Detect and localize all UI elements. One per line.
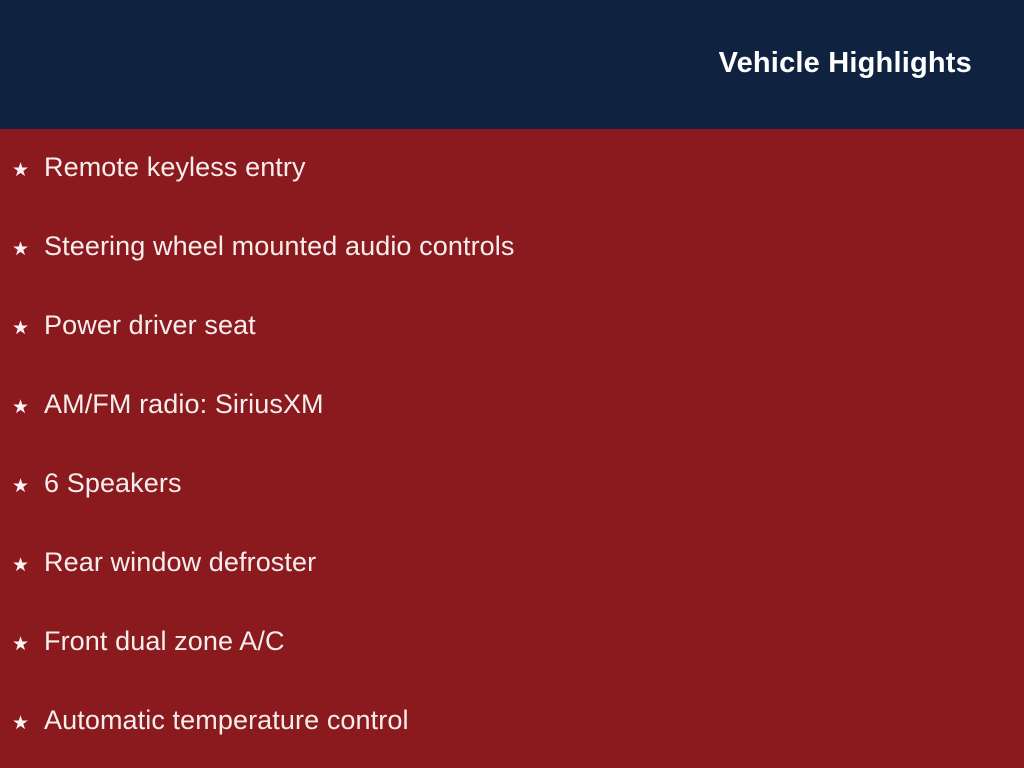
star-bullet-icon: ★ bbox=[12, 635, 44, 654]
vehicle-highlights-slide: Vehicle Highlights ★ Remote keyless entr… bbox=[0, 0, 1024, 768]
list-item-label: Steering wheel mounted audio controls bbox=[44, 233, 515, 260]
list-item: ★ Power driver seat bbox=[0, 312, 1024, 391]
star-bullet-icon: ★ bbox=[12, 398, 44, 417]
star-bullet-icon: ★ bbox=[12, 556, 44, 575]
list-item-label: Front dual zone A/C bbox=[44, 628, 285, 655]
list-item: ★ Automatic temperature control bbox=[0, 707, 1024, 768]
list-item: ★ AM/FM radio: SiriusXM bbox=[0, 391, 1024, 470]
star-bullet-icon: ★ bbox=[12, 240, 44, 259]
list-item: ★ Remote keyless entry bbox=[0, 154, 1024, 233]
star-bullet-icon: ★ bbox=[12, 319, 44, 338]
list-item-label: 6 Speakers bbox=[44, 470, 182, 497]
list-item-label: AM/FM radio: SiriusXM bbox=[44, 391, 324, 418]
list-item: ★ 6 Speakers bbox=[0, 470, 1024, 549]
vehicle-highlights-list: ★ Remote keyless entry ★ Steering wheel … bbox=[0, 129, 1024, 768]
list-item: ★ Steering wheel mounted audio controls bbox=[0, 233, 1024, 312]
star-bullet-icon: ★ bbox=[12, 714, 44, 733]
list-item-label: Automatic temperature control bbox=[44, 707, 409, 734]
list-item: ★ Front dual zone A/C bbox=[0, 628, 1024, 707]
star-bullet-icon: ★ bbox=[12, 477, 44, 496]
list-item-label: Power driver seat bbox=[44, 312, 256, 339]
list-item-label: Rear window defroster bbox=[44, 549, 316, 576]
list-item-label: Remote keyless entry bbox=[44, 154, 306, 181]
star-bullet-icon: ★ bbox=[12, 161, 44, 180]
list-item: ★ Rear window defroster bbox=[0, 549, 1024, 628]
page-title: Vehicle Highlights bbox=[719, 49, 972, 78]
slide-header-band: Vehicle Highlights bbox=[0, 0, 1024, 129]
